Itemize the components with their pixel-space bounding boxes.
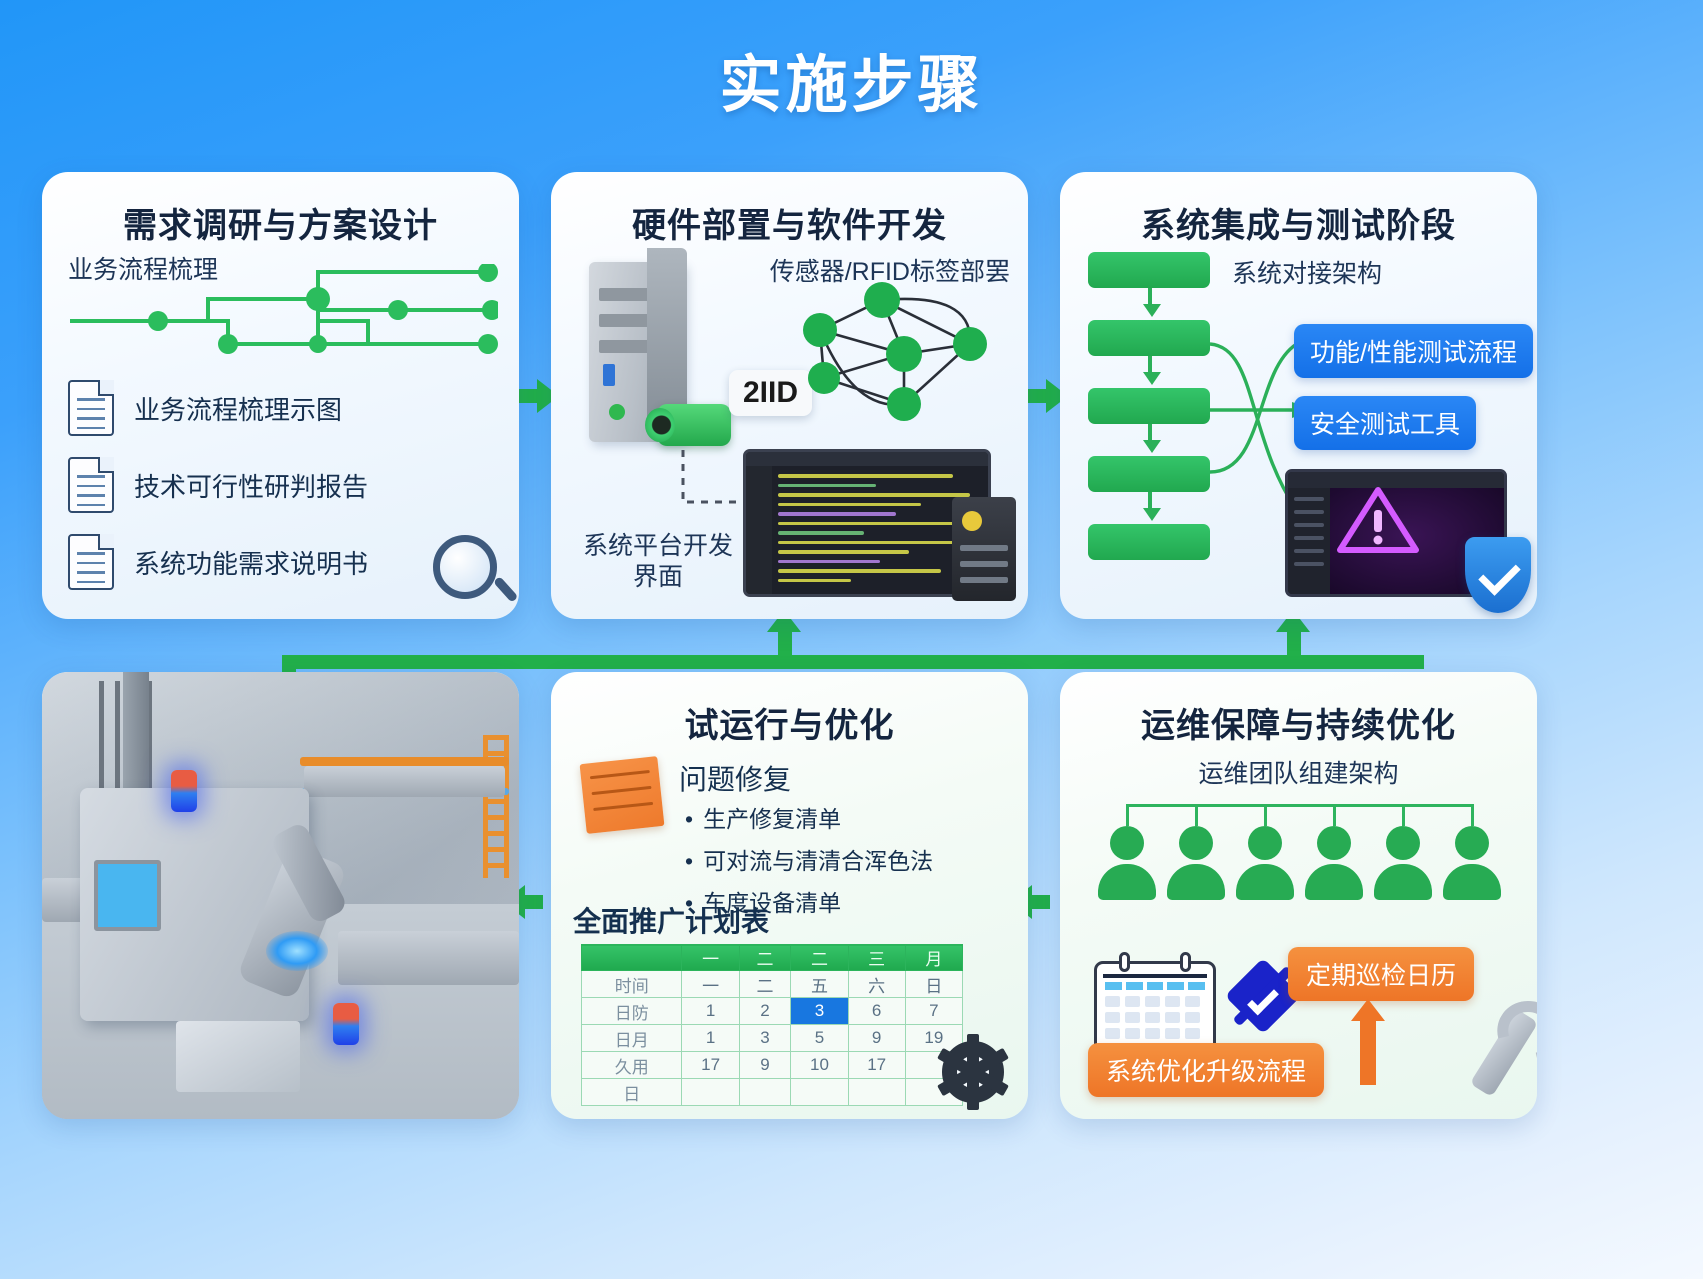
table-cell[interactable]: 二: [739, 971, 791, 998]
table-cell[interactable]: 6: [848, 998, 905, 1025]
arrow-loopback-bar: [282, 655, 1424, 669]
badge-upgrade-process[interactable]: 系统优化升级流程: [1088, 1043, 1324, 1097]
table-cell[interactable]: 9: [739, 1052, 791, 1079]
promotion-plan-table[interactable]: 一 二 二 三 月 时间 一 二 五 六 日 日防 1 2 3 6: [581, 944, 963, 1106]
photo-orange-rail: [300, 757, 510, 766]
table-cell[interactable]: [791, 1079, 848, 1106]
team-member-icon: [1305, 826, 1363, 900]
card5-title: 运维保障与持续优化: [1060, 698, 1537, 747]
flow-arrow-icon: [1143, 304, 1161, 317]
card-hardware-software[interactable]: 硬件部置与软件开发 传感器/RFID标签部罢 2IID: [551, 172, 1028, 619]
table-cell[interactable]: 五: [791, 971, 848, 998]
org-chart-bus: [1126, 804, 1472, 807]
arrow-card5-to-card4: [1030, 895, 1050, 909]
magnifier-icon: [433, 535, 497, 599]
row-label: 久用: [582, 1052, 682, 1079]
photo-crate: [176, 1021, 300, 1093]
photo-hmi-panel: [94, 860, 161, 932]
table-row[interactable]: 日月 1 3 5 9 19: [582, 1025, 963, 1052]
warning-triangle-icon: [1336, 484, 1420, 556]
table-cell[interactable]: 10: [791, 1052, 848, 1079]
process-flow-diagram-icon: [68, 264, 498, 359]
edge-server-icon: [952, 497, 1016, 601]
card3-title: 系统集成与测试阶段: [1060, 198, 1537, 247]
photo-signal-beacon: [171, 770, 197, 812]
table-cell[interactable]: 3: [739, 1025, 791, 1052]
arrow-loopback-up-stem-right: [1287, 628, 1301, 658]
orange-arrow-head-icon: [1351, 999, 1385, 1021]
org-chart-stem: [1471, 804, 1474, 826]
card-integration-testing[interactable]: 系统集成与测试阶段 系统对接架构 功能/性能测试流程 安全测试工具: [1060, 172, 1537, 619]
card4-title: 试运行与优化: [551, 698, 1028, 747]
test-pill-security[interactable]: 安全测试工具: [1294, 396, 1476, 450]
factory-automation-photo: [42, 672, 519, 1119]
card2-title: 硬件部置与软件开发: [551, 198, 1028, 247]
document-item[interactable]: 业务流程梳理示图: [68, 380, 342, 436]
card5-subtitle: 运维团队组建架构: [1060, 754, 1537, 790]
table-cell[interactable]: 1: [682, 998, 739, 1025]
card1-title: 需求调研与方案设计: [42, 198, 519, 247]
table-cell[interactable]: [848, 1079, 905, 1106]
table-cell[interactable]: 17: [682, 1052, 739, 1079]
org-chart-stem: [1264, 804, 1267, 826]
table-col-header: 二: [791, 945, 848, 971]
table-row[interactable]: 日: [582, 1079, 963, 1106]
table-cell[interactable]: [682, 1079, 739, 1106]
table-col-header: 月: [905, 945, 962, 971]
flow-step-box: [1088, 456, 1210, 492]
org-chart-stem: [1195, 804, 1198, 826]
rfid-sensor-icon: [657, 404, 731, 446]
flow-step-box: [1088, 388, 1210, 424]
team-member-icon: [1374, 826, 1432, 900]
page-title: 实施步骤: [0, 34, 1703, 124]
server-tower-side: [647, 248, 687, 430]
list-item: 可对流与清清合浑色法: [685, 842, 933, 876]
table-cell[interactable]: 2: [739, 998, 791, 1025]
document-icon: [68, 534, 114, 590]
table-cell[interactable]: 5: [791, 1025, 848, 1052]
row-label: 日月: [582, 1025, 682, 1052]
table-cell[interactable]: 一: [682, 971, 739, 998]
document-label: 业务流程梳理示图: [134, 390, 342, 427]
photo-signal-beacon: [333, 1003, 359, 1045]
flow-step-box: [1088, 524, 1210, 560]
document-label: 系统功能需求说明书: [134, 544, 368, 581]
arrow-loopback-up-stem-mid: [778, 628, 792, 658]
wrench-icon: [1470, 1009, 1537, 1097]
team-member-icon: [1098, 826, 1156, 900]
table-cell[interactable]: 7: [905, 998, 962, 1025]
arrow-card4-to-photo: [523, 895, 543, 909]
table-col-header: 一: [682, 945, 739, 971]
document-label: 技术可行性研判报告: [134, 467, 368, 504]
plan-table-title: 全面推广计划表: [573, 900, 769, 940]
document-item[interactable]: 系统功能需求说明书: [68, 534, 368, 590]
photo-conveyor-top: [304, 766, 504, 797]
list-item: 生产修复清单: [685, 800, 933, 834]
sticky-note-icon: [580, 756, 665, 834]
orange-arrow-stem: [1360, 1019, 1376, 1085]
document-icon: [68, 380, 114, 436]
org-chart-stem: [1333, 804, 1336, 826]
team-member-icon: [1443, 826, 1501, 900]
arrow-card1-to-card2: [519, 389, 537, 403]
table-col-header: [582, 945, 682, 971]
flow-arrow-icon: [1143, 372, 1161, 385]
shield-check-icon: [1465, 537, 1531, 613]
flow-arrow-icon: [1143, 440, 1161, 453]
table-cell[interactable]: 17: [848, 1052, 905, 1079]
org-chart-stem: [1126, 804, 1129, 826]
row-label: 时间: [582, 971, 682, 998]
table-row[interactable]: 日防 1 2 3 6 7: [582, 998, 963, 1025]
table-col-header: 二: [739, 945, 791, 971]
flow-arrow-icon: [1143, 508, 1161, 521]
document-icon: [68, 457, 114, 513]
badge-inspection-calendar[interactable]: 定期巡检日历: [1288, 947, 1474, 1001]
card-operations-maintenance[interactable]: 运维保障与持续优化 运维团队组建架构 定期巡检日历 系统优化升级流程: [1060, 672, 1537, 1119]
arrow-card2-to-card3: [1028, 389, 1046, 403]
card-requirements-research[interactable]: 需求调研与方案设计 业务流程梳理 业务流程梳理示图: [42, 172, 519, 619]
photo-conveyor-right: [338, 931, 519, 985]
team-member-icon: [1236, 826, 1294, 900]
table-cell-selected[interactable]: 3: [791, 998, 848, 1025]
table-cell[interactable]: [739, 1079, 791, 1106]
table-cell[interactable]: 1: [682, 1025, 739, 1052]
table-cell[interactable]: 六: [848, 971, 905, 998]
card-trial-optimization[interactable]: 试运行与优化 问题修复 生产修复清单 可对流与清清合浑色法 车度设备清单 全面推…: [551, 672, 1028, 1119]
card3-subtitle: 系统对接架构: [1232, 254, 1382, 290]
test-pill-performance[interactable]: 功能/性能测试流程: [1294, 324, 1533, 378]
table-row[interactable]: 时间 一 二 五 六 日: [582, 971, 963, 998]
table-cell[interactable]: 9: [848, 1025, 905, 1052]
document-item[interactable]: 技术可行性研判报告: [68, 457, 368, 513]
row-label: 日: [582, 1079, 682, 1106]
row-label: 日防: [582, 998, 682, 1025]
card4-section-heading: 问题修复: [679, 758, 791, 798]
network-mesh-icon: [794, 282, 1004, 422]
team-member-icon: [1167, 826, 1225, 900]
org-chart-stem: [1402, 804, 1405, 826]
table-cell[interactable]: 日: [905, 971, 962, 998]
gear-icon: [942, 1041, 1004, 1103]
photo-surface: [42, 672, 519, 1119]
flow-step-box: [1088, 320, 1210, 356]
card2-caption: 系统平台开发界面: [573, 531, 743, 594]
table-header-row: 一 二 二 三 月: [582, 945, 963, 971]
table-col-header: 三: [848, 945, 905, 971]
flow-step-box: [1088, 252, 1210, 288]
table-row[interactable]: 久用 17 9 10 17: [582, 1052, 963, 1079]
